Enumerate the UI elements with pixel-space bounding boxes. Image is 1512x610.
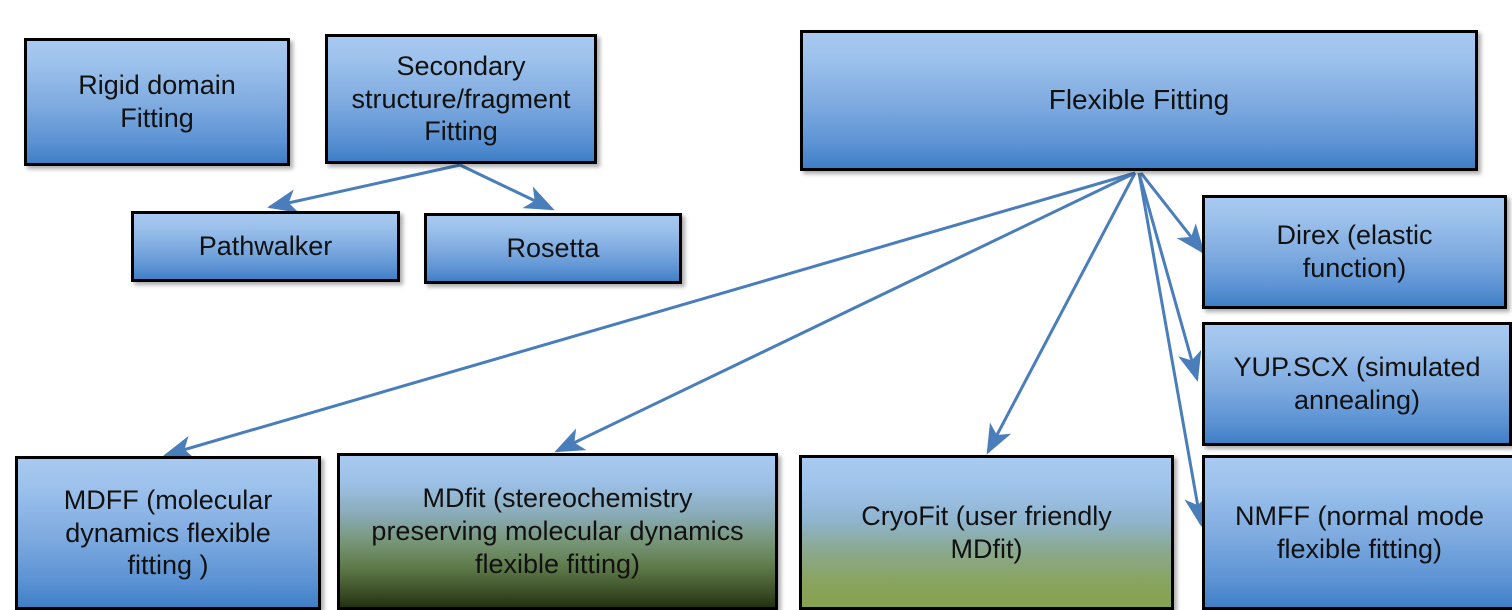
node-rigid-domain-fitting[interactable]: Rigid domain Fitting xyxy=(24,38,290,166)
node-secondary-structure-fitting[interactable]: Secondary structure/fragment Fitting xyxy=(325,34,597,164)
edge-secondary-to-rosetta xyxy=(460,165,552,209)
node-flexible-fitting[interactable]: Flexible Fitting xyxy=(800,30,1478,171)
node-label-pathwalker: Pathwalker xyxy=(134,230,397,263)
edge-secondary-to-pathwalker xyxy=(270,165,460,207)
node-label-cryofit: CryoFit (user friendly MDfit) xyxy=(802,500,1171,566)
node-nmff[interactable]: NMFF (normal mode flexible fitting) xyxy=(1202,455,1512,610)
node-cryofit[interactable]: CryoFit (user friendly MDfit) xyxy=(799,455,1174,610)
node-label-mdff: MDFF (molecular dynamics flexible fittin… xyxy=(18,484,318,583)
node-yup-scx[interactable]: YUP.SCX (simulated annealing) xyxy=(1202,322,1512,446)
node-label-mdfit: MDfit (stereochemistry preserving molecu… xyxy=(340,482,775,581)
node-label-rigid-domain-fitting: Rigid domain Fitting xyxy=(27,69,287,135)
diagram-canvas: Rigid domain FittingSecondary structure/… xyxy=(0,0,1512,610)
edge-flexible-to-direx xyxy=(1141,173,1203,252)
node-mdfit[interactable]: MDfit (stereochemistry preserving molecu… xyxy=(337,453,778,610)
node-pathwalker[interactable]: Pathwalker xyxy=(131,211,400,282)
node-label-secondary-structure-fitting: Secondary structure/fragment Fitting xyxy=(328,50,594,149)
node-label-flexible-fitting: Flexible Fitting xyxy=(803,83,1475,117)
edge-flexible-to-cryofit xyxy=(988,173,1135,452)
node-rosetta[interactable]: Rosetta xyxy=(424,213,682,284)
node-label-nmff: NMFF (normal mode flexible fitting) xyxy=(1205,500,1512,566)
edge-flexible-to-yupscx xyxy=(1139,173,1197,379)
node-label-direx: Direx (elastic function) xyxy=(1205,219,1504,285)
node-label-yup-scx: YUP.SCX (simulated annealing) xyxy=(1205,351,1509,417)
node-direx[interactable]: Direx (elastic function) xyxy=(1202,195,1507,309)
node-label-rosetta: Rosetta xyxy=(427,232,679,265)
node-mdff[interactable]: MDFF (molecular dynamics flexible fittin… xyxy=(15,456,321,610)
